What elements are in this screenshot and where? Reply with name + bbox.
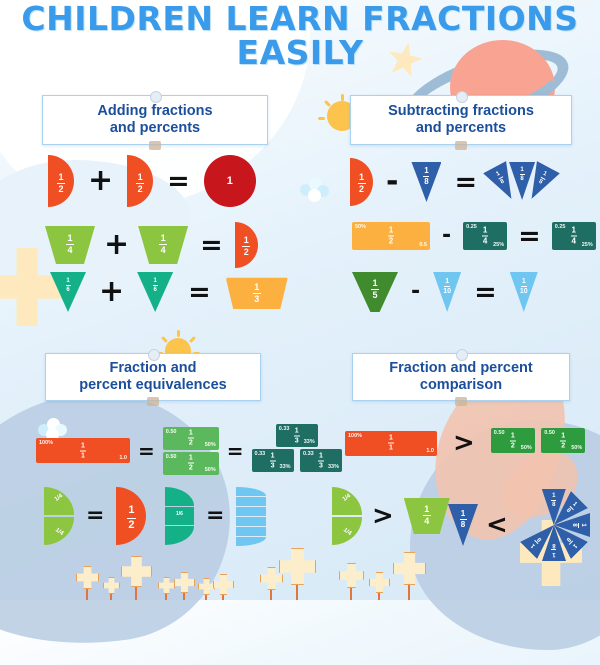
pinwheel-flower-icon <box>279 548 316 585</box>
pinwheel-flower-icon <box>103 577 120 594</box>
pinwheel-flower-icon <box>198 578 215 595</box>
pinwheel-flower-icon <box>121 556 152 587</box>
pinwheel-flower-icon <box>76 566 99 589</box>
pinwheel-flower-icon <box>339 563 364 588</box>
pinwheel-flower-icon <box>158 577 175 594</box>
pinwheel-flower-icon <box>369 572 390 593</box>
pinwheel-flower-icon <box>393 552 426 585</box>
pinwheel-flower-icon <box>174 572 195 593</box>
pinwheel-flower-icon <box>213 574 234 595</box>
pinwheel-garden <box>0 0 600 600</box>
